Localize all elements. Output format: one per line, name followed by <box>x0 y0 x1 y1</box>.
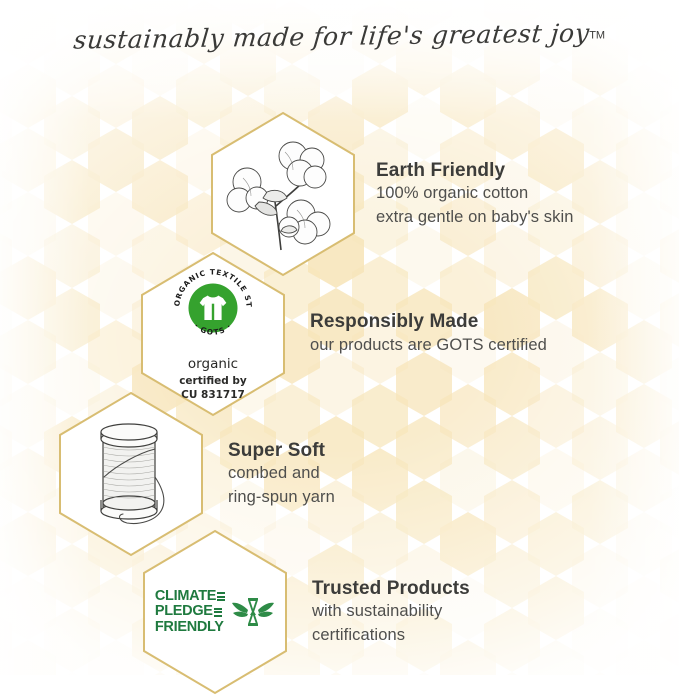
feature-text-earth: Earth Friendly 100% organic cotton extra… <box>358 159 574 230</box>
feature-line: with sustainability <box>312 600 470 623</box>
feature-line: our products are GOTS certified <box>310 334 547 357</box>
feature-trusted-products: CLIMATE PLEDGE FRIENDLY <box>140 528 470 696</box>
cpf-line-2: PLEDGE <box>155 604 213 619</box>
thread-spool-sketch-icon <box>77 415 185 533</box>
gots-certified-by-label: certified by <box>179 375 247 387</box>
winged-hourglass-icon <box>231 592 275 632</box>
climate-pledge-friendly-logo: CLIMATE PLEDGE FRIENDLY <box>155 589 275 635</box>
gots-organic-certification-logo: GLOBAL ORGANIC TEXTILE STANDARD · GOTS ·… <box>170 265 256 402</box>
feature-title: Responsibly Made <box>310 310 547 334</box>
page-headline: sustainably made for life's greatest joy… <box>0 22 679 51</box>
feature-title: Earth Friendly <box>376 159 574 183</box>
feature-line: extra gentle on baby's skin <box>376 206 574 229</box>
feature-line: ring-spun yarn <box>228 486 335 509</box>
gots-organic-label: organic <box>188 356 238 372</box>
feature-text-responsibly-made: Responsibly Made our products are GOTS c… <box>288 310 547 357</box>
cpf-bars-icon <box>217 592 225 601</box>
cpf-line-1: CLIMATE <box>155 589 216 604</box>
feature-line: combed and <box>228 462 335 485</box>
trademark-symbol: TM <box>589 30 605 42</box>
gots-seal-icon: GLOBAL ORGANIC TEXTILE STANDARD · GOTS · <box>170 265 256 351</box>
feature-title: Super Soft <box>228 439 335 463</box>
cpf-line-3: FRIENDLY <box>155 620 224 635</box>
feature-title: Trusted Products <box>312 577 470 601</box>
headline-text: sustainably made for life's greatest joy <box>72 18 591 54</box>
cpf-bars-icon <box>214 608 222 617</box>
cotton-plant-sketch-icon <box>223 132 343 257</box>
hexagon-frame-climate-pledge: CLIMATE PLEDGE FRIENDLY <box>140 528 290 696</box>
feature-line: 100% organic cotton <box>376 182 574 205</box>
feature-text-super-soft: Super Soft combed and ring-spun yarn <box>206 439 335 510</box>
feature-line: certifications <box>312 624 470 647</box>
feature-text-trusted-products: Trusted Products with sustainability cer… <box>290 577 470 648</box>
